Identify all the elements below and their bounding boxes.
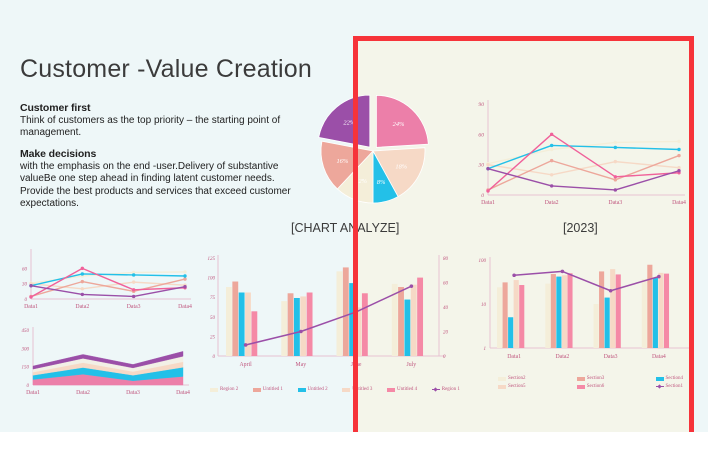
data-point <box>183 285 186 288</box>
line-series <box>488 134 679 191</box>
data-point <box>677 154 680 157</box>
y-tick-label-left: 50 <box>210 316 216 321</box>
legend-swatch <box>432 388 440 392</box>
data-point <box>614 146 617 149</box>
bar <box>417 278 423 356</box>
legend-item[interactable]: Section3 <box>577 376 605 381</box>
legend-row: Section2Section3Section4 <box>498 376 683 381</box>
stacked-area-chart: 0150300450Data1Data2Data3Data4 <box>5 320 195 405</box>
legend-item[interactable]: Section2 <box>498 376 526 381</box>
pie-slice-label: 12% <box>355 178 367 185</box>
x-tick-label: April <box>240 362 253 368</box>
data-point <box>614 175 617 178</box>
legend-label: Section3 <box>587 376 605 381</box>
data-point <box>677 148 680 151</box>
section-make-decisions: Make decisions with the emphasis on the … <box>20 148 305 210</box>
x-tick-label: Data1 <box>507 354 521 360</box>
y-tick-label: 300 <box>22 347 30 352</box>
x-tick-label: Data3 <box>604 354 618 360</box>
x-tick-label: Data4 <box>672 200 686 206</box>
data-point <box>550 148 553 151</box>
bar <box>251 311 257 356</box>
legend-swatch <box>498 377 506 381</box>
data-point <box>132 280 135 283</box>
trend-point <box>410 284 414 288</box>
section-heading: Customer first <box>20 102 305 114</box>
trend-point <box>299 330 303 334</box>
legend-label: Region 1 <box>442 387 460 392</box>
legend-item[interactable]: Region 2 <box>210 387 238 392</box>
y-tick-label-left: 100 <box>208 277 216 282</box>
bar <box>232 282 238 356</box>
section-combo-chart: 110100Data1Data2Data3Data4 <box>468 252 693 372</box>
data-point <box>677 166 680 169</box>
y-tick-label: 450 <box>22 329 30 334</box>
data-point <box>183 277 186 280</box>
data-point <box>614 178 617 181</box>
trend-line <box>246 286 412 345</box>
y-tick-label-left: 125 <box>208 257 216 262</box>
data-point <box>550 144 553 147</box>
x-tick-label: Data2 <box>75 304 89 310</box>
data-point <box>132 288 135 291</box>
data-point <box>81 272 84 275</box>
y-tick-label: 1 <box>484 347 487 352</box>
bar <box>343 267 349 356</box>
legend-swatch <box>656 377 664 381</box>
x-tick-label: May <box>296 362 307 368</box>
line-series <box>31 286 185 297</box>
bar <box>226 287 232 356</box>
trend-point <box>354 310 358 314</box>
bar <box>605 298 610 348</box>
section-text: with the emphasis on the end -user.Deliv… <box>20 161 305 210</box>
bar <box>398 287 404 356</box>
legend-row: Section5Section6Section1 <box>498 384 683 389</box>
bar <box>551 274 556 348</box>
legend-swatch <box>577 377 585 381</box>
y-tick-label-right: 60 <box>443 282 449 287</box>
data-point <box>183 270 186 273</box>
bar <box>288 293 294 356</box>
legend-swatch <box>253 388 261 392</box>
legend-label: Section2 <box>508 376 526 381</box>
trend-point <box>512 273 516 277</box>
x-tick-label: Data1 <box>24 304 38 310</box>
y-tick-label: 150 <box>22 366 30 371</box>
bar <box>616 274 621 348</box>
data-point <box>550 159 553 162</box>
data-point <box>29 295 32 298</box>
legend-label: Section6 <box>587 384 605 389</box>
bar <box>307 292 313 356</box>
data-point <box>81 287 84 290</box>
bar <box>281 301 287 356</box>
x-tick-label: June <box>351 362 362 368</box>
data-point <box>550 173 553 176</box>
legend-label: Untitled 1 <box>263 387 283 392</box>
data-point <box>677 169 680 172</box>
x-tick-label: Data4 <box>178 304 192 310</box>
bar <box>658 273 663 348</box>
section-customer-first: Customer first Think of customers as the… <box>20 102 305 140</box>
y-tick-label: 10 <box>481 303 487 308</box>
section-text: Think of customers as the top priority –… <box>20 115 305 140</box>
bar <box>545 284 550 348</box>
y-tick-label: 60 <box>22 267 28 272</box>
pie-slice-label: 24% <box>393 121 405 128</box>
legend-item[interactable]: Untitled 2 <box>298 387 328 392</box>
bar <box>508 317 513 348</box>
bar <box>653 278 658 348</box>
trend-line <box>514 271 659 290</box>
section-heading: Make decisions <box>20 148 305 160</box>
x-tick-label: Data1 <box>481 200 495 206</box>
data-point <box>550 184 553 187</box>
bar <box>514 280 519 348</box>
page-title: Customer -Value Creation <box>20 55 312 84</box>
line-series <box>488 162 679 175</box>
x-tick-label: July <box>407 362 417 368</box>
y-tick-label-right: 40 <box>443 306 449 311</box>
y-tick-label: 90 <box>478 102 484 108</box>
data-point <box>29 284 32 287</box>
monthly-combo-legend: Region 2Untitled 1Untitled 2Untitled 3Un… <box>210 387 460 392</box>
bar <box>556 277 561 348</box>
legend-item[interactable]: Untitled 4 <box>387 387 417 392</box>
pie-slice-label: 22% <box>343 119 355 126</box>
bar <box>562 275 567 348</box>
bar <box>239 292 245 356</box>
data-point <box>132 295 135 298</box>
data-point <box>486 163 489 166</box>
legend-swatch <box>498 385 506 389</box>
line-chart-small: 03060Data1Data2Data3Data4 <box>5 245 195 317</box>
bar <box>497 287 502 348</box>
bar <box>519 285 524 348</box>
legend-item[interactable]: Section6 <box>577 384 605 389</box>
y-tick-label: 100 <box>479 259 487 264</box>
bar <box>300 296 306 356</box>
bar <box>593 304 598 348</box>
data-point <box>132 273 135 276</box>
legend-swatch <box>342 388 350 392</box>
line-series <box>488 156 679 190</box>
x-tick-label: Data3 <box>127 304 141 310</box>
legend-label: Section5 <box>508 384 526 389</box>
x-tick-label: Data4 <box>176 390 190 396</box>
data-point <box>614 188 617 191</box>
legend-item[interactable]: Section4 <box>656 376 684 381</box>
bar <box>349 283 355 356</box>
legend-label: Untitled 4 <box>397 387 417 392</box>
bar <box>337 271 343 356</box>
bar <box>503 282 508 348</box>
bar <box>647 265 652 348</box>
legend-item[interactable]: Untitled 3 <box>342 387 372 392</box>
line-series <box>31 279 185 296</box>
x-tick-label: Data3 <box>126 390 140 396</box>
trend-point <box>561 270 565 274</box>
line-series <box>31 282 185 289</box>
monthly-combo-chart: 0255075100125020406080AprilMayJuneJuly <box>196 250 461 380</box>
legend-item[interactable]: Section5 <box>498 384 526 389</box>
bar <box>356 307 362 356</box>
legend-item[interactable]: Section1 <box>656 384 684 389</box>
bar <box>599 271 604 348</box>
bar <box>294 298 300 356</box>
y-tick-label: 0 <box>481 193 484 199</box>
data-point <box>81 293 84 296</box>
data-point <box>183 274 186 277</box>
trend-point <box>657 275 661 279</box>
line-chart-caption: [2023] <box>563 221 598 235</box>
trend-point <box>244 343 248 347</box>
legend-swatch <box>577 385 585 389</box>
data-point <box>614 160 617 163</box>
bar <box>567 273 572 348</box>
x-tick-label: Data3 <box>608 200 622 206</box>
data-point <box>677 140 680 143</box>
section-combo-legend: Section2Section3Section4Section5Section6… <box>498 376 683 392</box>
y-tick-label-right: 80 <box>443 257 449 262</box>
data-point <box>614 141 617 144</box>
legend-label: Untitled 3 <box>352 387 372 392</box>
line-series <box>488 141 679 163</box>
y-tick-label: 30 <box>22 283 28 288</box>
y-tick-label: 0 <box>27 384 30 389</box>
y-tick-label-right: 0 <box>443 355 446 360</box>
pie-chart: 24%18%8%12%16%22% <box>295 88 455 223</box>
trend-point <box>609 289 613 293</box>
bar <box>642 279 647 348</box>
legend-label: Section4 <box>666 376 684 381</box>
data-point <box>486 167 489 170</box>
legend-item[interactable]: Untitled 1 <box>253 387 283 392</box>
bar <box>610 269 615 348</box>
x-tick-label: Data2 <box>545 200 559 206</box>
data-point <box>486 189 489 192</box>
data-point <box>81 267 84 270</box>
y-tick-label: 30 <box>477 163 484 169</box>
legend-swatch <box>298 388 306 392</box>
line-chart-2023: 0306090Data1Data2Data3Data4 <box>458 92 693 217</box>
y-tick-label: 60 <box>478 132 484 138</box>
x-tick-label: Data4 <box>652 354 666 360</box>
bar <box>404 300 410 356</box>
pie-chart-caption: [CHART ANALYZE] <box>291 221 399 235</box>
y-tick-label-left: 25 <box>210 335 216 340</box>
data-point <box>81 280 84 283</box>
legend-swatch <box>210 388 218 392</box>
x-tick-label: Data2 <box>555 354 569 360</box>
y-tick-label-left: 75 <box>210 296 216 301</box>
legend-label: Untitled 2 <box>308 387 328 392</box>
legend-swatch <box>387 388 395 392</box>
bar <box>411 285 417 356</box>
pie-slice-label: 18% <box>395 164 407 171</box>
pie-slice-label: 16% <box>336 158 348 165</box>
legend-swatch <box>656 385 664 389</box>
bar <box>362 293 368 356</box>
y-tick-label: 0 <box>25 298 28 303</box>
bar <box>664 274 669 348</box>
x-tick-label: Data2 <box>76 390 90 396</box>
pie-slice-label: 8% <box>377 179 386 186</box>
legend-label: Section1 <box>666 384 684 389</box>
data-point <box>550 133 553 136</box>
y-tick-label-right: 20 <box>443 331 449 336</box>
y-tick-label-left: 0 <box>213 355 216 360</box>
x-tick-label: Data1 <box>26 390 40 396</box>
slide-canvas: Customer -Value Creation Customer first … <box>0 0 708 432</box>
line-series <box>488 169 679 190</box>
legend-item[interactable]: Region 1 <box>432 387 460 392</box>
legend-label: Region 2 <box>220 387 238 392</box>
line-series <box>31 272 185 283</box>
